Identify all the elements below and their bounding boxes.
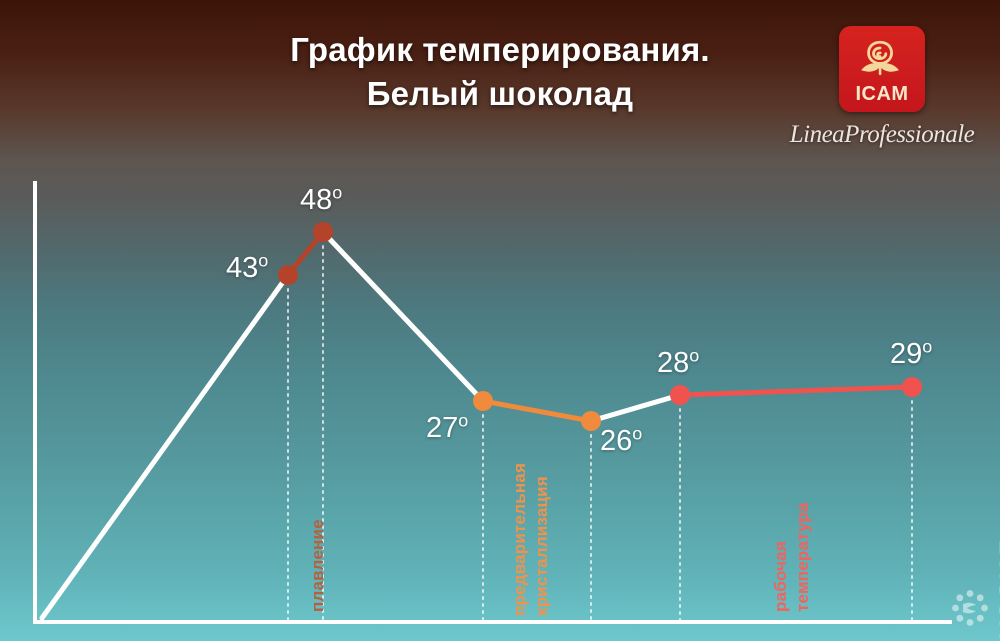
- temperature-curve-plot: [0, 0, 1000, 641]
- data-point-43[interactable]: [278, 265, 298, 285]
- data-point-28[interactable]: [670, 385, 690, 405]
- segment-reheat: [591, 395, 680, 421]
- zone-label-2-0: рабочая: [771, 541, 791, 612]
- data-point-27[interactable]: [473, 391, 493, 411]
- segment-cooling-down: [323, 232, 483, 401]
- data-point-29[interactable]: [902, 377, 922, 397]
- slide-canvas: График темперирования. Белый шоколад ICA…: [0, 0, 1000, 641]
- zone-label-1-1: кристаллизация: [532, 476, 552, 616]
- segment-heating-ramp: [42, 275, 288, 618]
- segment-working-plateau: [680, 387, 912, 395]
- zone-label-0-0: плавление: [308, 519, 328, 612]
- segment-precrystallization: [483, 401, 591, 421]
- data-point-26[interactable]: [581, 411, 601, 431]
- data-point-48[interactable]: [313, 222, 333, 242]
- zone-label-1-0: предварительная: [510, 463, 530, 616]
- zone-label-2-1: температура: [793, 502, 813, 612]
